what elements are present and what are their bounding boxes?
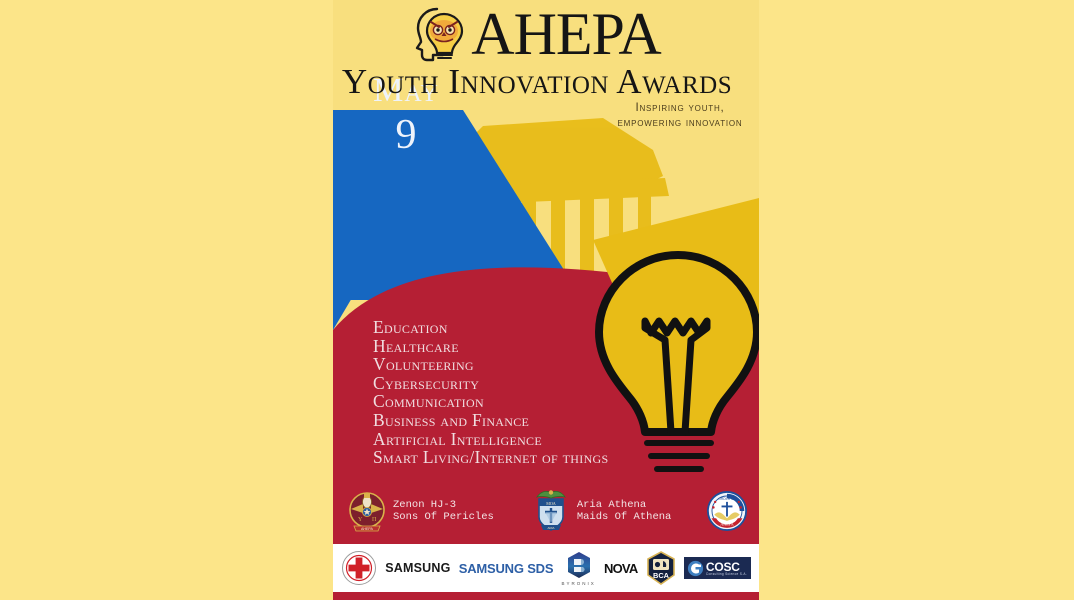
svg-text:ΜΟΑ: ΜΟΑ (546, 501, 556, 506)
category-item: Cybersecurity (373, 374, 608, 393)
category-item: Business and Finance (373, 411, 608, 430)
event-date-day: 9 (341, 110, 471, 160)
organization-label: Zenon HJ-3 Sons Of Pericles (393, 499, 494, 524)
organization-maids-of-athena: ΜΟΑ ARIA Aria Athena Maids Of Athena (531, 489, 672, 533)
bca-shield-icon: BCA (646, 551, 676, 585)
bca-wordmark: BCA (653, 571, 670, 580)
nova-wordmark-icon: NOVA (604, 561, 637, 576)
cosc-mark-icon (687, 560, 704, 577)
svg-text:AHEPA: AHEPA (361, 527, 374, 531)
byronix-wordmark: BYRONIX (562, 581, 596, 586)
sponsor-nova: NOVA (604, 561, 637, 576)
red-cross-icon (341, 550, 377, 586)
svg-text:Y: Y (358, 517, 363, 523)
maids-of-athena-crest-icon: ΜΟΑ ARIA (531, 489, 571, 533)
samsung-wordmark-icon: SAMSUNG (385, 561, 450, 575)
category-item: Smart Living/Internet of things (373, 448, 608, 467)
svg-text:ARIA: ARIA (547, 526, 554, 530)
sponsor-cosc: COSC Consulting Science S.A. (684, 557, 751, 579)
sponsor-red-cross (341, 550, 377, 586)
organizations-row: Y Π AHEPA Zenon HJ-3 Sons Of Pericles ΜΟ… (333, 480, 759, 542)
ahepa-seal-icon: ORDER OF AHEPA (707, 489, 747, 533)
poster-screenshot: May 9 Education Healthcare Volunteering … (0, 0, 1074, 600)
svg-text:ORDER OF: ORDER OF (719, 497, 736, 501)
organization-name: Maids Of Athena (577, 511, 672, 524)
svg-text:Π: Π (372, 517, 377, 523)
svg-text:AHEPA: AHEPA (721, 522, 735, 527)
event-date-month: May (341, 72, 471, 110)
tagline-line-2: empowering innovation (595, 116, 765, 131)
sponsor-byronix: BYRONIX (562, 551, 596, 586)
sponsor-samsung: SAMSUNG (385, 561, 450, 575)
category-item: Education (373, 318, 608, 337)
samsung-sds-wordmark-icon: SAMSUNG SDS (459, 561, 554, 576)
organization-label: Aria Athena Maids Of Athena (577, 499, 672, 524)
event-date: May 9 (341, 72, 471, 160)
organization-name: Sons Of Pericles (393, 511, 494, 524)
sponsor-bar: SAMSUNG SAMSUNG SDS (333, 544, 759, 592)
organization-chapter: Aria Athena (577, 499, 672, 512)
byronix-logo-icon (566, 551, 592, 579)
category-item: Artificial Intelligence (373, 430, 608, 449)
organization-ahepa: ORDER OF AHEPA (707, 489, 747, 533)
sponsor-samsung-sds: SAMSUNG SDS (459, 561, 554, 576)
sons-of-pericles-crest-icon: Y Π AHEPA (347, 489, 387, 533)
organization-sons-of-pericles: Y Π AHEPA Zenon HJ-3 Sons Of Pericles (347, 489, 494, 533)
cosc-logo-icon: COSC Consulting Science S.A. (684, 557, 751, 579)
cosc-tagline: Consulting Science S.A. (706, 573, 747, 576)
event-poster: May 9 Education Healthcare Volunteering … (333, 0, 759, 600)
tagline-line-1: Inspiring youth, (595, 101, 765, 116)
organization-chapter: Zenon HJ-3 (393, 499, 494, 512)
category-item: Volunteering (373, 355, 608, 374)
category-item: Healthcare (373, 337, 608, 356)
category-item: Communication (373, 392, 608, 411)
tagline: Inspiring youth, empowering innovation (595, 101, 765, 131)
category-list: Education Healthcare Volunteering Cybers… (373, 318, 608, 467)
sponsor-bca: BCA (646, 551, 676, 585)
